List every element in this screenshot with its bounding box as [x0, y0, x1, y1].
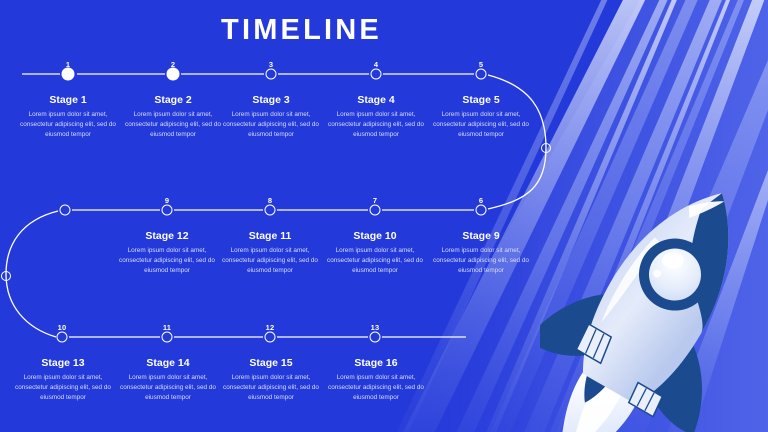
rocket-fin-right	[636, 325, 738, 432]
stage-block-12[interactable]: Stage 12 Lorem ipsum dolor sit amet, con…	[118, 231, 216, 277]
node-number-5: 5	[479, 61, 483, 69]
stage-title: Stage 1	[19, 95, 117, 107]
stage-block-15[interactable]: Stage 15 Lorem ipsum dolor sit amet, con…	[222, 358, 320, 404]
stage-body: Lorem ipsum dolor sit amet, consectetur …	[19, 110, 117, 141]
node-number-7: 7	[373, 197, 377, 205]
rocket-nose-cone	[647, 188, 767, 333]
stage-body: Lorem ipsum dolor sit amet, consectetur …	[14, 373, 112, 404]
timeline-node-10[interactable]	[57, 332, 68, 343]
rocket-band-lines	[573, 329, 668, 410]
stage-body: Lorem ipsum dolor sit amet, consectetur …	[222, 373, 320, 404]
stage-title: Stage 12	[118, 231, 216, 243]
timeline-node-8[interactable]	[265, 205, 276, 216]
stage-block-1[interactable]: Stage 1 Lorem ipsum dolor sit amet, cons…	[19, 95, 117, 141]
stage-title: Stage 2	[124, 95, 222, 107]
connector-node-right[interactable]	[541, 143, 551, 153]
stage-body: Lorem ipsum dolor sit amet, consectetur …	[119, 373, 217, 404]
rocket-window-glass	[639, 239, 710, 310]
timeline-node-3[interactable]	[266, 69, 277, 80]
rocket-window-glint	[662, 253, 684, 269]
timeline-node-13[interactable]	[370, 332, 381, 343]
stage-block-11[interactable]: Stage 11 Lorem ipsum dolor sit amet, con…	[221, 231, 319, 277]
stage-body: Lorem ipsum dolor sit amet, consectetur …	[432, 246, 530, 277]
stage-body: Lorem ipsum dolor sit amet, consectetur …	[327, 110, 425, 141]
stage-body: Lorem ipsum dolor sit amet, consectetur …	[118, 246, 216, 277]
stage-title: Stage 15	[222, 358, 320, 370]
stage-body: Lorem ipsum dolor sit amet, consectetur …	[432, 110, 530, 141]
stage-title: Stage 5	[432, 95, 530, 107]
stage-title: Stage 9	[432, 231, 530, 243]
node-number-4: 4	[374, 61, 378, 69]
node-number-12: 12	[266, 324, 275, 332]
stage-block-10[interactable]: Stage 10 Lorem ipsum dolor sit amet, con…	[326, 231, 424, 277]
rocket-body	[564, 168, 767, 415]
stage-block-2[interactable]: Stage 2 Lorem ipsum dolor sit amet, cons…	[124, 95, 222, 141]
connector-node-row2-start[interactable]	[60, 205, 71, 216]
timeline-node-2[interactable]	[167, 68, 180, 81]
stage-body: Lorem ipsum dolor sit amet, consectetur …	[124, 110, 222, 141]
rocket-fin-center	[571, 324, 637, 409]
rocket-band-left	[575, 324, 615, 363]
stage-block-5[interactable]: Stage 5 Lorem ipsum dolor sit amet, cons…	[432, 95, 530, 141]
stage-title: Stage 3	[222, 95, 320, 107]
rocket-body-highlight	[599, 234, 662, 328]
rocket-flame	[540, 365, 641, 432]
timeline-node-9[interactable]	[162, 205, 173, 216]
timeline-node-7[interactable]	[370, 205, 381, 216]
stage-block-9[interactable]: Stage 9 Lorem ipsum dolor sit amet, cons…	[432, 231, 530, 277]
node-number-11: 11	[163, 324, 171, 332]
stage-title: Stage 16	[327, 358, 425, 370]
timeline-node-12[interactable]	[265, 332, 276, 343]
node-number-6: 6	[479, 197, 483, 205]
stage-title: Stage 11	[221, 231, 319, 243]
rocket-window-ring	[626, 225, 724, 323]
stage-block-13[interactable]: Stage 13 Lorem ipsum dolor sit amet, con…	[14, 358, 112, 404]
stage-body: Lorem ipsum dolor sit amet, consectetur …	[326, 246, 424, 277]
node-number-8: 8	[268, 197, 272, 205]
stage-block-3[interactable]: Stage 3 Lorem ipsum dolor sit amet, cons…	[222, 95, 320, 141]
timeline-node-11[interactable]	[162, 332, 173, 343]
page-title: TIMELINE	[0, 16, 768, 45]
node-number-10: 10	[58, 324, 67, 332]
timeline-node-6[interactable]	[476, 205, 487, 216]
stage-body: Lorem ipsum dolor sit amet, consectetur …	[222, 110, 320, 141]
stage-title: Stage 13	[14, 358, 112, 370]
stage-title: Stage 10	[326, 231, 424, 243]
rocket-fin-left	[540, 261, 628, 372]
rocket-band-right	[627, 383, 664, 417]
rocket-window-glint-small	[652, 268, 663, 279]
stage-body: Lorem ipsum dolor sit amet, consectetur …	[327, 373, 425, 404]
node-number-1: 1	[66, 61, 70, 69]
slide-canvas: TIMELINE	[0, 0, 768, 432]
node-number-3: 3	[269, 61, 273, 69]
node-number-13: 13	[371, 324, 380, 332]
rocket-icon	[540, 168, 768, 432]
timeline-node-5[interactable]	[476, 69, 487, 80]
rocket-nose-highlight	[684, 187, 724, 229]
stage-title: Stage 14	[119, 358, 217, 370]
stage-block-4[interactable]: Stage 4 Lorem ipsum dolor sit amet, cons…	[327, 95, 425, 141]
timeline-node-1[interactable]	[62, 68, 75, 81]
connector-node-left[interactable]	[1, 271, 11, 281]
curve-left-row2-row3	[6, 211, 58, 337]
rocket-flame-core	[560, 377, 624, 432]
node-number-2: 2	[171, 61, 175, 69]
stage-body: Lorem ipsum dolor sit amet, consectetur …	[221, 246, 319, 277]
timeline-node-4[interactable]	[371, 69, 382, 80]
stage-block-14[interactable]: Stage 14 Lorem ipsum dolor sit amet, con…	[119, 358, 217, 404]
node-number-9: 9	[165, 197, 169, 205]
stage-block-16[interactable]: Stage 16 Lorem ipsum dolor sit amet, con…	[327, 358, 425, 404]
stage-title: Stage 4	[327, 95, 425, 107]
